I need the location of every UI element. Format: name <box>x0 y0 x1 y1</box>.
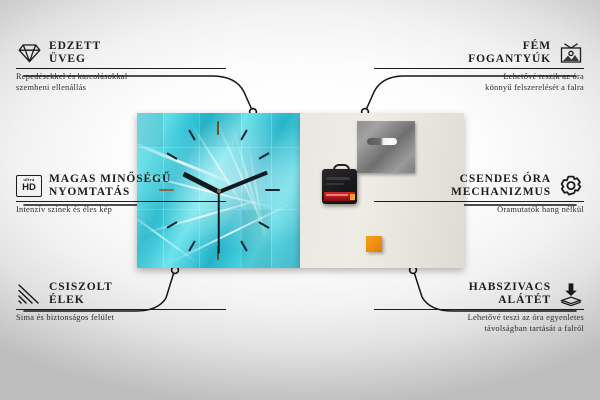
callout-divider <box>374 309 584 310</box>
callout-title-line: ALÁTÉT <box>469 294 551 307</box>
mechanism-detail <box>326 183 344 185</box>
hour-tick <box>166 152 177 160</box>
callout-title-line: MAGAS MINŐSÉGŰ <box>49 173 171 186</box>
callout-edzett-uveg: EDZETT ÜVEG Repedésekkel és karcolásokka… <box>16 40 226 93</box>
battery-plus-marker <box>350 194 355 200</box>
callout-divider <box>374 68 584 69</box>
callout-habszivacs-alatet: HABSZIVACS ALÁTÉT Lehetővé teszi az óra … <box>374 281 584 334</box>
callout-csiszolt-elek: CSISZOLT ÉLEK Sima és biztonságos felüle… <box>16 281 226 324</box>
callout-title-line: FÉM <box>468 40 551 53</box>
callout-subtitle-line: Repedésekkel és karcolásokkal <box>16 72 226 83</box>
callout-title-line: ÜVEG <box>49 53 101 66</box>
mechanism-hanger-loop <box>333 164 350 173</box>
callout-magas-minosegu-nyomtatas: ultra HD MAGAS MINŐSÉGŰ NYOMTATÁS Intenz… <box>16 173 226 216</box>
callout-subtitle-line: Óramutatók hang nélkül <box>374 205 584 216</box>
callout-title-line: EDZETT <box>49 40 101 53</box>
metal-hanger-plate <box>357 121 415 173</box>
callout-subtitle-line: Sima és biztonságos felület <box>16 313 226 324</box>
callout-title-line: NYOMTATÁS <box>49 186 171 199</box>
infographic-canvas: EDZETT ÜVEG Repedésekkel és karcolásokka… <box>0 0 600 400</box>
hour-tick <box>188 240 196 251</box>
hour-tick <box>258 221 269 229</box>
hour-tick <box>217 121 219 135</box>
callout-subtitle-line: Intenzív színek és éles kép <box>16 205 226 216</box>
hour-tick <box>240 129 248 140</box>
callout-title-line: CSENDES ÓRA <box>451 173 551 186</box>
callout-title-line: MECHANIZMUS <box>451 186 551 199</box>
callout-title-line: HABSZIVACS <box>469 281 551 294</box>
ultra-hd-badge-icon: ultra HD <box>16 174 42 198</box>
polished-edges-icon <box>16 282 42 306</box>
callout-subtitle-line: távolságban tartását a falról <box>374 324 584 335</box>
hour-tick <box>188 129 196 140</box>
mechanism-detail <box>326 177 350 180</box>
callout-subtitle-line: szembeni ellenállás <box>16 83 226 94</box>
foam-pad-arrow-icon <box>558 282 584 306</box>
callout-subtitle-line: könnyű felszerelését a falra <box>374 83 584 94</box>
callout-divider <box>374 201 584 202</box>
callout-title-line: ÉLEK <box>49 294 113 307</box>
hour-tick <box>166 221 177 229</box>
hour-tick <box>258 152 269 160</box>
callout-divider <box>16 68 226 69</box>
callout-title-line: CSISZOLT <box>49 281 113 294</box>
callout-subtitle-line: Lehetővé teszik az óra <box>374 72 584 83</box>
ultra-hd-large-text: HD <box>22 183 36 193</box>
diamond-icon <box>16 41 42 65</box>
foam-spacer-pad <box>366 236 382 252</box>
callout-fem-fogantyuk: FÉM FOGANTYÚK Lehetővé teszik az óra kön… <box>374 40 584 93</box>
callout-title-line: FOGANTYÚK <box>468 53 551 66</box>
callout-csendes-ora-mechanizmus: CSENDES ÓRA MECHANIZMUS Óramutatók hang … <box>374 173 584 216</box>
picture-hanger-icon <box>558 41 584 65</box>
battery-stripe <box>326 194 348 196</box>
hanger-slot <box>367 138 397 145</box>
hour-tick <box>240 240 248 251</box>
quiet-clock-mechanism <box>322 169 357 204</box>
hour-tick <box>265 189 280 191</box>
gear-icon <box>558 174 584 198</box>
callout-divider <box>16 309 226 310</box>
callout-divider <box>16 201 226 202</box>
callout-subtitle-line: Lehetővé teszi az óra egyenletes <box>374 313 584 324</box>
